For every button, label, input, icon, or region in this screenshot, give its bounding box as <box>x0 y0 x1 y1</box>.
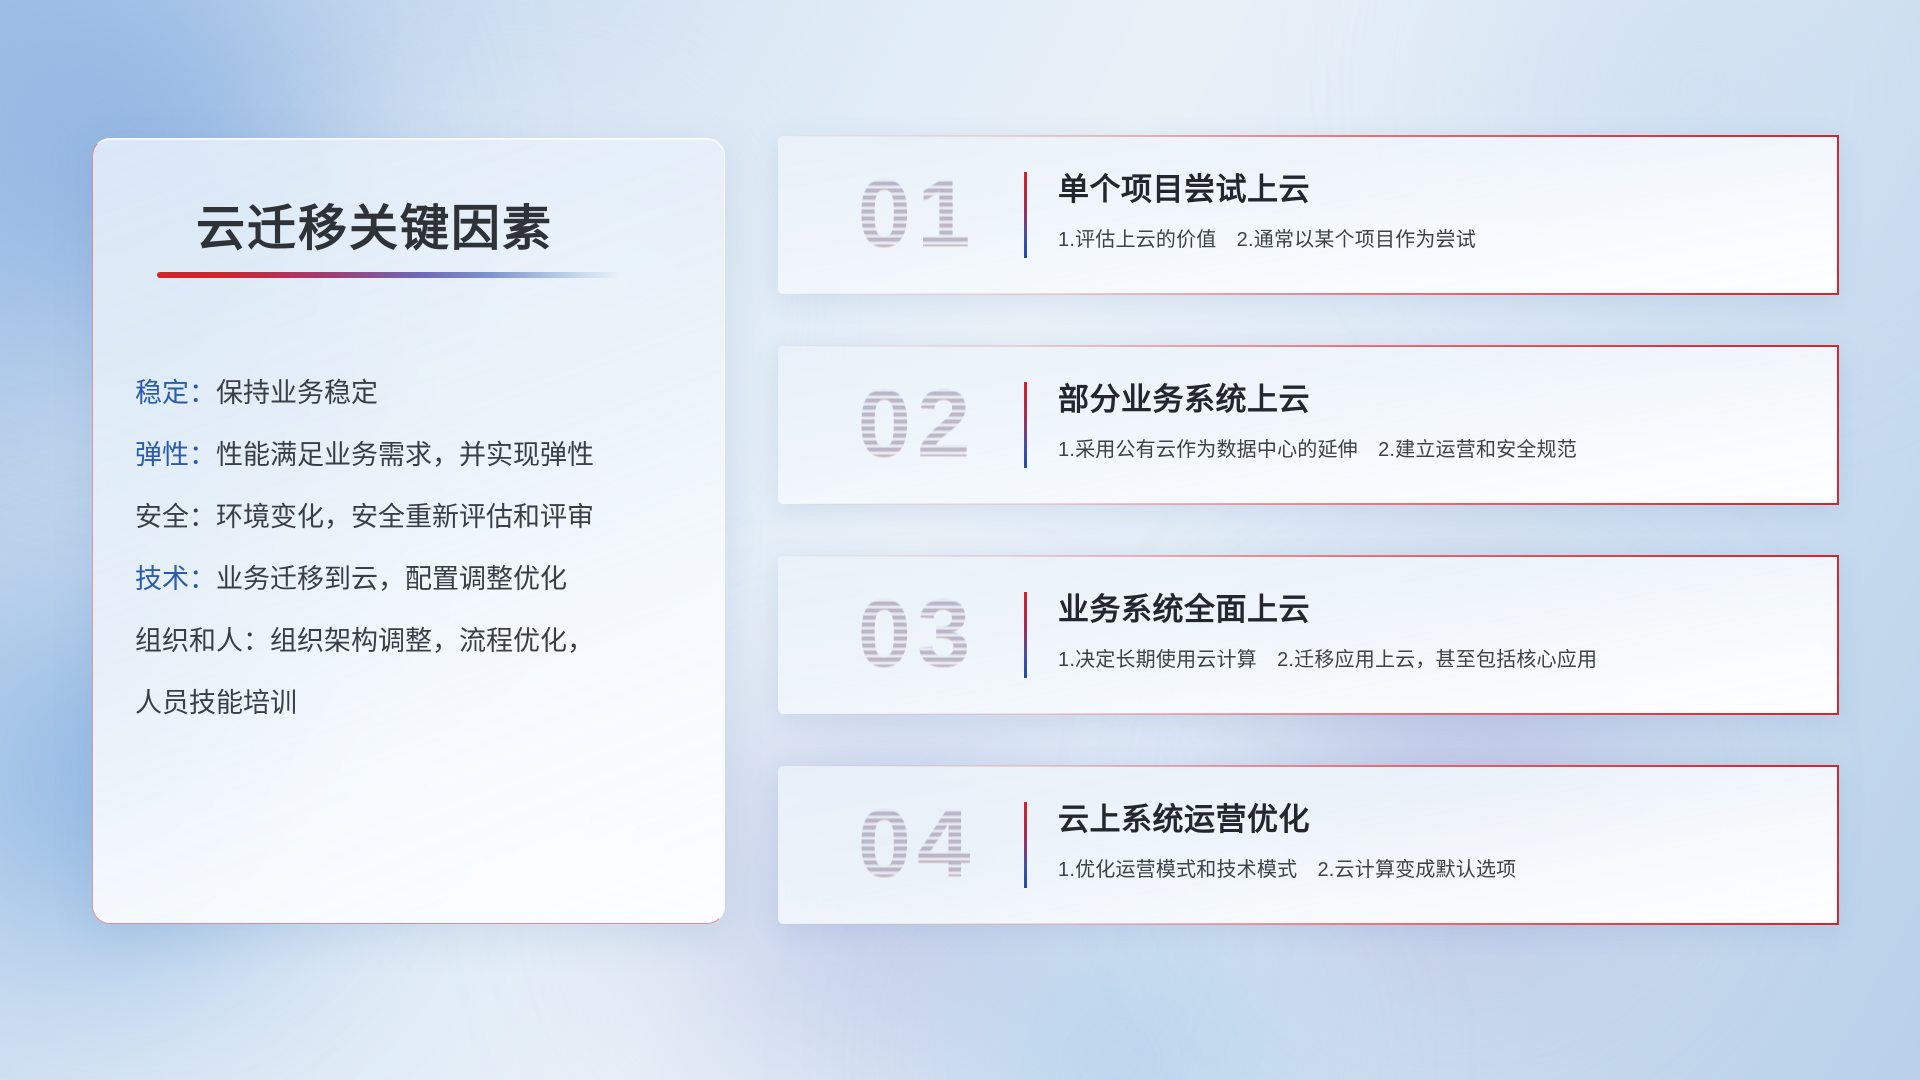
list-item: 组织和人： 组织架构调整，流程优化， <box>135 610 695 672</box>
card-title: 单个项目尝试上云 <box>1058 164 1808 209</box>
list-item-label: 安全： <box>135 504 216 531</box>
list-item-label: 弹性： <box>135 442 216 469</box>
card-divider-bar <box>1024 592 1027 678</box>
card-body: 单个项目尝试上云 1.评估上云的价值 2.通常以某个项目作为尝试 <box>1058 164 1808 252</box>
card-divider-bar <box>1024 802 1027 888</box>
page-title: 云迁移关键因素 <box>196 189 553 260</box>
stage-card-04[interactable]: 04 云上系统运营优化 1.优化运营模式和技术模式 2.云计算变成默认选项 <box>778 766 1838 924</box>
card-body: 业务系统全面上云 1.决定长期使用云计算 2.迁移应用上云，甚至包括核心应用 <box>1058 584 1808 672</box>
card-divider-bar <box>1024 172 1027 258</box>
list-item-label: 组织和人： <box>135 628 270 655</box>
card-right-accent <box>1837 135 1839 295</box>
list-item-text: 性能满足业务需求，并实现弹性 <box>216 442 594 469</box>
card-right-accent <box>1837 555 1839 715</box>
stage-number-04: 04 <box>822 784 1012 904</box>
key-factors-panel: 云迁移关键因素 稳定： 保持业务稳定 弹性： 性能满足业务需求，并实现弹性 安全… <box>92 138 725 924</box>
list-item-text: 业务迁移到云，配置调整优化 <box>216 566 567 593</box>
card-description: 1.评估上云的价值 2.通常以某个项目作为尝试 <box>1058 223 1808 252</box>
list-item-text: 环境变化，安全重新评估和评审 <box>216 504 594 531</box>
card-right-accent <box>1837 345 1839 505</box>
list-item-text: 人员技能培训 <box>135 690 297 717</box>
list-item-text: 保持业务稳定 <box>216 380 378 407</box>
migration-stage-cards: 01 单个项目尝试上云 1.评估上云的价值 2.通常以某个项目作为尝试 02 部… <box>778 136 1838 976</box>
card-title: 云上系统运营优化 <box>1058 794 1808 839</box>
list-item: 安全： 环境变化，安全重新评估和评审 <box>135 486 695 548</box>
stage-card-02[interactable]: 02 部分业务系统上云 1.采用公有云作为数据中心的延伸 2.建立运营和安全规范 <box>778 346 1838 504</box>
stage-number-03: 03 <box>822 574 1012 694</box>
card-title: 部分业务系统上云 <box>1058 374 1808 419</box>
list-item: 技术： 业务迁移到云，配置调整优化 <box>135 548 695 610</box>
stage-card-01[interactable]: 01 单个项目尝试上云 1.评估上云的价值 2.通常以某个项目作为尝试 <box>778 136 1838 294</box>
key-factors-list: 稳定： 保持业务稳定 弹性： 性能满足业务需求，并实现弹性 安全： 环境变化，安… <box>135 362 695 734</box>
list-item: 稳定： 保持业务稳定 <box>135 362 695 424</box>
list-item: 弹性： 性能满足业务需求，并实现弹性 <box>135 424 695 486</box>
card-description: 1.采用公有云作为数据中心的延伸 2.建立运营和安全规范 <box>1058 433 1808 462</box>
list-item-label: 技术： <box>135 566 216 593</box>
card-title: 业务系统全面上云 <box>1058 584 1808 629</box>
card-body: 部分业务系统上云 1.采用公有云作为数据中心的延伸 2.建立运营和安全规范 <box>1058 374 1808 462</box>
card-right-accent <box>1837 765 1839 925</box>
card-description: 1.决定长期使用云计算 2.迁移应用上云，甚至包括核心应用 <box>1058 643 1808 672</box>
stage-number-02: 02 <box>822 364 1012 484</box>
stage-card-03[interactable]: 03 业务系统全面上云 1.决定长期使用云计算 2.迁移应用上云，甚至包括核心应… <box>778 556 1838 714</box>
card-body: 云上系统运营优化 1.优化运营模式和技术模式 2.云计算变成默认选项 <box>1058 794 1808 882</box>
title-underline-rule <box>157 272 619 278</box>
list-item-label: 稳定： <box>135 380 216 407</box>
card-divider-bar <box>1024 382 1027 468</box>
card-description: 1.优化运营模式和技术模式 2.云计算变成默认选项 <box>1058 853 1808 882</box>
list-item-text: 组织架构调整，流程优化， <box>270 628 594 655</box>
stage-number-01: 01 <box>822 154 1012 274</box>
list-item: 人员技能培训 <box>135 672 695 734</box>
